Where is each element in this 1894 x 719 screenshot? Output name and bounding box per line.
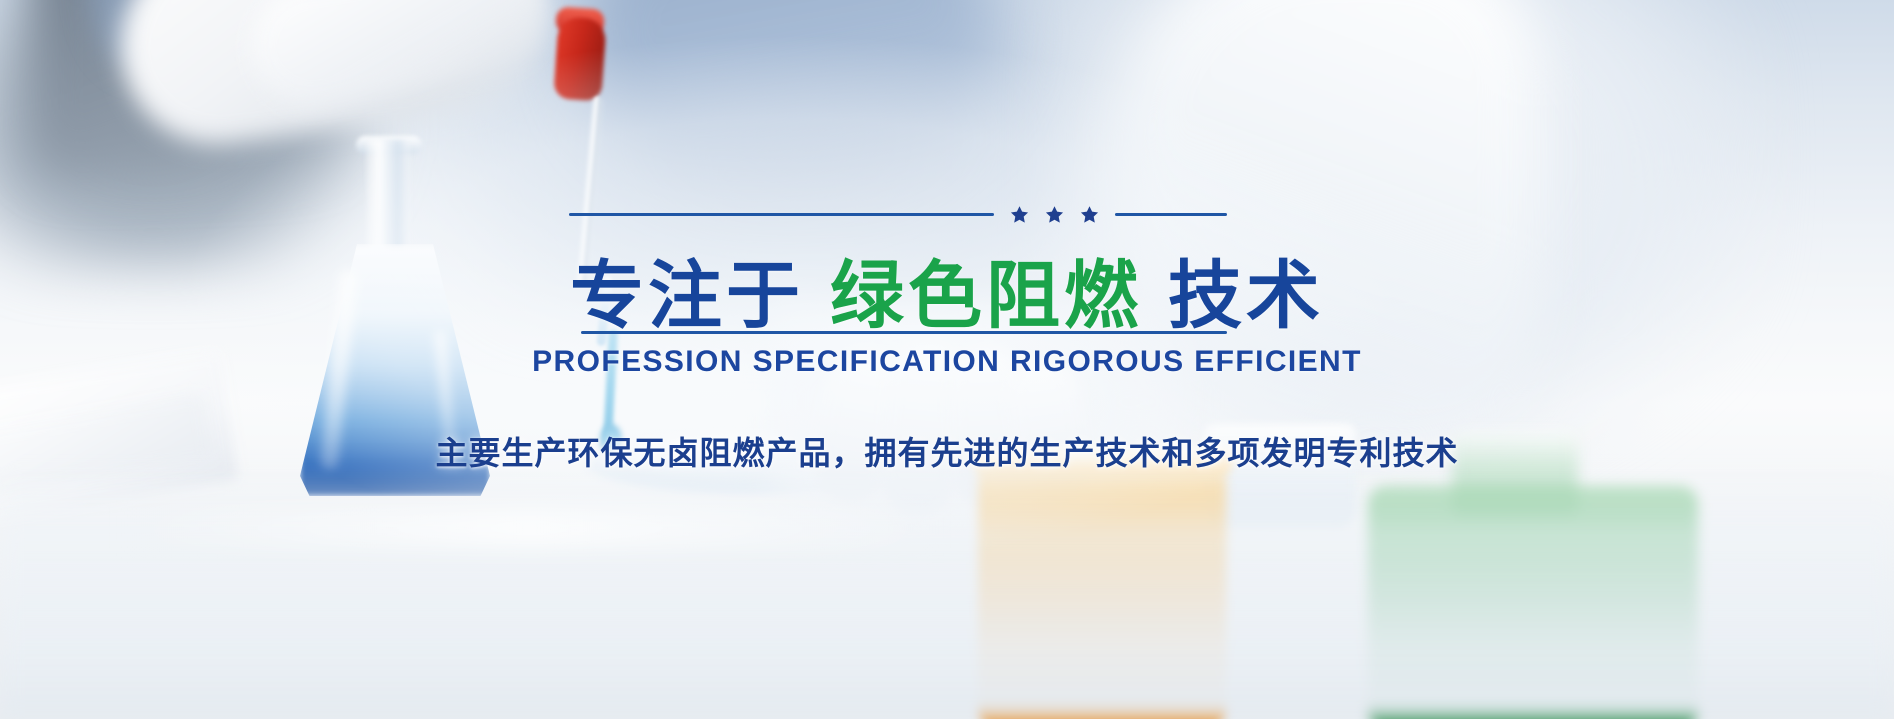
decorative-rule-left xyxy=(569,213,994,216)
banner-content: 专注于绿色阻燃技术 PROFESSION SPECIFICATION RIGOR… xyxy=(0,0,1894,719)
headline-part-3: 技术 xyxy=(1168,253,1324,339)
decorative-rule-under xyxy=(0,331,1894,334)
star-icon xyxy=(1080,205,1099,224)
headline-part-2: 绿色阻燃 xyxy=(830,253,1142,339)
decorative-rule-right xyxy=(1115,213,1227,216)
headline: 专注于绿色阻燃技术 xyxy=(0,257,1894,337)
star-icon xyxy=(1010,205,1029,224)
hero-banner: 专注于绿色阻燃技术 PROFESSION SPECIFICATION RIGOR… xyxy=(0,0,1894,719)
headline-part-1: 专注于 xyxy=(570,253,804,339)
decorative-rule-row xyxy=(0,205,1894,224)
subtitle-english: PROFESSION SPECIFICATION RIGOROUS EFFICI… xyxy=(0,345,1894,379)
star-group xyxy=(1010,205,1099,224)
description-text: 主要生产环保无卤阻燃产品，拥有先进的生产技术和多项发明专利技术 xyxy=(0,428,1894,474)
star-icon xyxy=(1045,205,1064,224)
